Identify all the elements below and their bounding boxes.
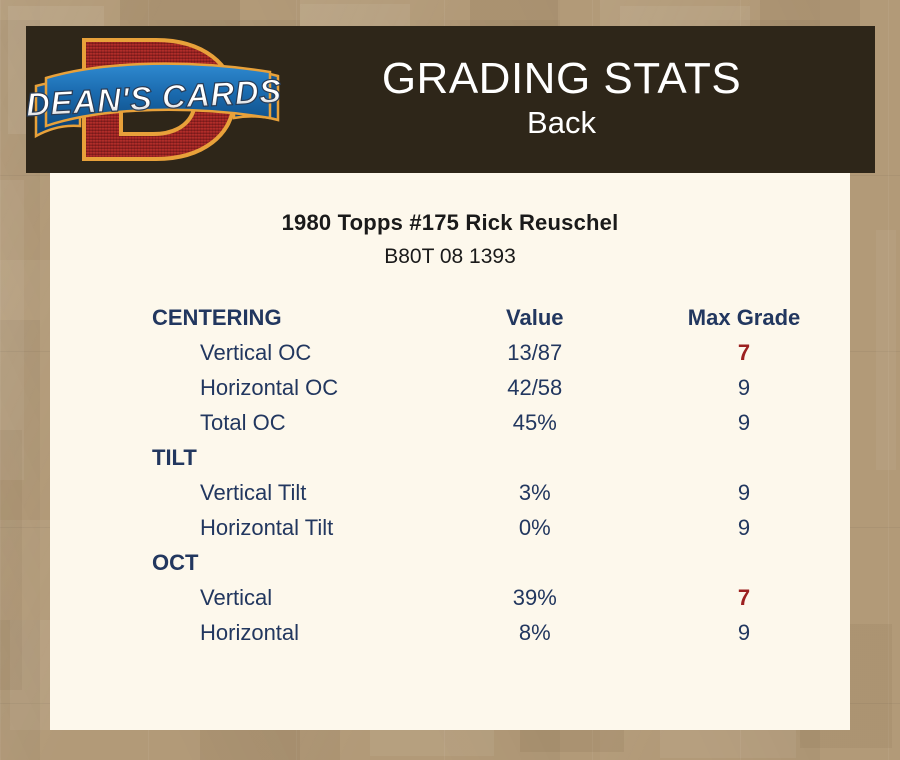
- column-header-value: Value: [431, 300, 638, 335]
- section-label: TILT: [50, 440, 431, 475]
- row-label: Vertical Tilt: [50, 475, 431, 510]
- row-max-grade: 9: [638, 615, 850, 650]
- row-value: [431, 545, 638, 580]
- table-row: Vertical Tilt3%9: [50, 475, 850, 510]
- row-max-grade: 9: [638, 510, 850, 545]
- table-row: Horizontal8%9: [50, 615, 850, 650]
- row-label: Horizontal: [50, 615, 431, 650]
- row-max-grade: [638, 440, 850, 475]
- table-section-row: TILT: [50, 440, 850, 475]
- table-row: Vertical OC13/877: [50, 335, 850, 370]
- row-label: Vertical: [50, 580, 431, 615]
- logo-svg: DEAN'S CARDS: [26, 26, 288, 173]
- row-value: 13/87: [431, 335, 638, 370]
- row-value: 45%: [431, 405, 638, 440]
- table-row: Total OC45%9: [50, 405, 850, 440]
- row-label: Vertical OC: [50, 335, 431, 370]
- header-titles: GRADING STATS Back: [288, 54, 875, 146]
- row-max-grade: [638, 545, 850, 580]
- table-row: Horizontal Tilt0%9: [50, 510, 850, 545]
- card-title: 1980 Topps #175 Rick Reuschel: [50, 208, 850, 238]
- page-subtitle: Back: [288, 104, 835, 142]
- row-max-grade: 9: [638, 405, 850, 440]
- card-serial-number: B80T 08 1393: [50, 242, 850, 272]
- section-label: CENTERING: [50, 300, 431, 335]
- row-max-grade: 9: [638, 370, 850, 405]
- row-max-grade: 7: [638, 580, 850, 615]
- row-label: Horizontal OC: [50, 370, 431, 405]
- row-value: 42/58: [431, 370, 638, 405]
- section-label: OCT: [50, 545, 431, 580]
- row-value: 39%: [431, 580, 638, 615]
- grading-stats-body: CENTERINGValueMax GradeVertical OC13/877…: [50, 300, 850, 650]
- grading-stats-table: CENTERINGValueMax GradeVertical OC13/877…: [50, 300, 850, 650]
- row-max-grade: 9: [638, 475, 850, 510]
- row-value: 0%: [431, 510, 638, 545]
- row-label: Total OC: [50, 405, 431, 440]
- page-title: GRADING STATS: [288, 54, 835, 104]
- row-value: 8%: [431, 615, 638, 650]
- column-header-max-grade: Max Grade: [638, 300, 850, 335]
- table-row: Vertical39%7: [50, 580, 850, 615]
- row-value: 3%: [431, 475, 638, 510]
- row-label: Horizontal Tilt: [50, 510, 431, 545]
- deans-cards-logo[interactable]: DEAN'S CARDS: [26, 26, 288, 173]
- table-section-row: OCT: [50, 545, 850, 580]
- table-header-row: CENTERINGValueMax Grade: [50, 300, 850, 335]
- row-max-grade: 7: [638, 335, 850, 370]
- row-value: [431, 440, 638, 475]
- header-bar: DEAN'S CARDS GRADING STATS Back: [26, 26, 875, 173]
- table-row: Horizontal OC42/589: [50, 370, 850, 405]
- content-panel: 1980 Topps #175 Rick Reuschel B80T 08 13…: [50, 172, 850, 730]
